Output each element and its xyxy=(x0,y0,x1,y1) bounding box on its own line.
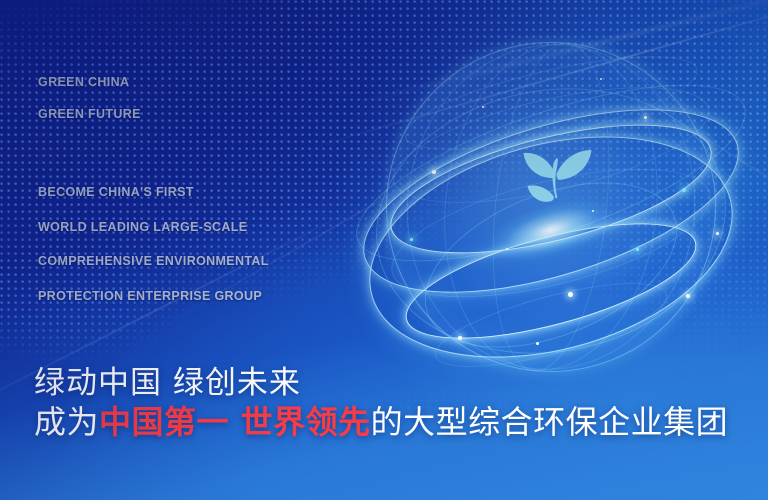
headline-line-2: 成为中国第一 世界领先的大型综合环保企业集团 xyxy=(34,405,728,441)
particle xyxy=(410,238,413,241)
particle xyxy=(600,78,602,80)
english-tagline-top: GREEN CHINA GREEN FUTURE xyxy=(38,76,141,139)
particle xyxy=(686,294,690,298)
headline-prefix: 成为 xyxy=(34,403,99,441)
english-tagline-line: GREEN FUTURE xyxy=(38,108,141,121)
particle xyxy=(536,342,539,345)
headline-highlight: 中国第一 世界领先 xyxy=(99,403,371,441)
headline-suffix: 的大型综合环保企业集团 xyxy=(371,403,729,441)
particle xyxy=(716,232,719,235)
chinese-headline: 绿动中国 绿创未来 成为中国第一 世界领先的大型综合环保企业集团 xyxy=(34,366,728,441)
wireframe-globe xyxy=(386,42,716,372)
english-slogan-line: PROTECTION ENTERPRISE GROUP xyxy=(38,290,269,303)
particle xyxy=(682,188,686,192)
english-slogan-line: WORLD LEADING LARGE-SCALE xyxy=(38,221,269,234)
english-slogan-line: BECOME CHINA'S FIRST xyxy=(38,186,269,199)
hero-banner: GREEN CHINA GREEN FUTURE BECOME CHINA'S … xyxy=(0,0,768,500)
particle xyxy=(458,336,462,340)
particle xyxy=(432,170,436,174)
particle xyxy=(592,210,594,212)
particle xyxy=(482,106,484,108)
headline-line-1: 绿动中国 绿创未来 xyxy=(34,366,728,401)
particle xyxy=(636,248,639,251)
particle xyxy=(644,116,647,119)
particle xyxy=(568,292,573,297)
sprout-seedling-icon xyxy=(511,144,597,242)
english-slogan-line: COMPREHENSIVE ENVIRONMENTAL xyxy=(38,255,269,268)
english-tagline-line: GREEN CHINA xyxy=(38,76,141,89)
particle xyxy=(506,248,508,250)
english-slogan-block: BECOME CHINA'S FIRST WORLD LEADING LARGE… xyxy=(38,186,269,324)
